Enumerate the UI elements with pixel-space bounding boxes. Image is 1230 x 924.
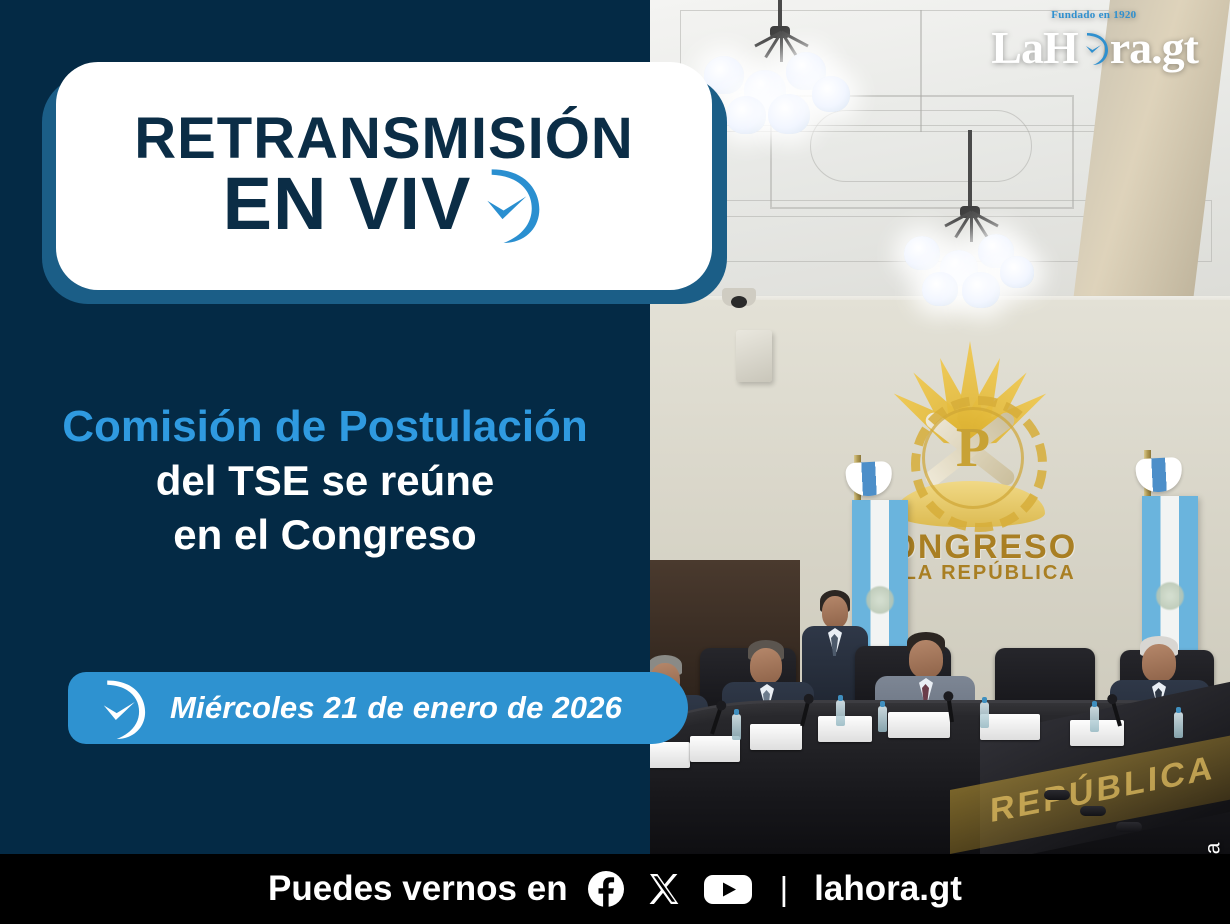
facebook-icon[interactable]	[586, 869, 626, 909]
microphone-base	[1044, 790, 1070, 800]
title-line-retransmision: RETRANSMISIÓN	[134, 109, 634, 169]
lahora-founded-text: Fundado en 1920	[1051, 10, 1136, 21]
water-bottle	[732, 714, 741, 740]
title-card: RETRANSMISIÓN EN VIV	[56, 62, 712, 290]
water-bottle	[1090, 706, 1099, 732]
crescent-swoosh-icon	[1079, 28, 1109, 68]
water-bottle	[1174, 712, 1183, 738]
footer-url[interactable]: lahora.gt	[814, 870, 962, 908]
lahora-logo[interactable]: LaH ra.gt Fundado en 1920	[991, 22, 1198, 74]
promo-graphic: P CONGRESO DE LA REPÚBLICA	[0, 0, 1230, 924]
microphone-base	[1080, 806, 1106, 816]
emblem-monogram: P	[944, 419, 996, 477]
photo-credit: Foto La Hora	[1203, 842, 1224, 854]
footer-separator: |	[780, 870, 789, 908]
microphone-base	[1116, 822, 1142, 832]
nameplate	[750, 724, 802, 750]
chandelier-center	[890, 130, 1050, 330]
nameplate	[980, 714, 1040, 740]
headline-line-3: en el Congreso	[0, 508, 650, 562]
headline-line-2: del TSE se reúne	[0, 454, 650, 508]
security-camera	[722, 288, 756, 306]
date-badge-text: Miércoles 21 de enero de 2026	[170, 691, 622, 725]
lahora-logo-text-right: ra.gt	[1110, 25, 1198, 71]
water-bottle	[980, 702, 989, 728]
headline-line-1: Comisión de Postulación	[0, 400, 650, 454]
nameplate	[818, 716, 872, 742]
headline: Comisión de Postulación del TSE se reúne…	[0, 400, 650, 562]
nameplate	[888, 712, 950, 738]
water-bottle	[836, 700, 845, 726]
date-badge: Miércoles 21 de enero de 2026	[68, 672, 688, 744]
lahora-logo-text-left: LaH	[991, 25, 1077, 71]
event-photo: P CONGRESO DE LA REPÚBLICA	[650, 0, 1230, 854]
crescent-swoosh-icon	[90, 677, 152, 739]
nameplate	[650, 742, 690, 768]
x-twitter-icon[interactable]	[644, 869, 684, 909]
footer-label: Puedes vernos en	[268, 870, 568, 908]
title-line-envivo: EN VIV	[223, 166, 472, 242]
crescent-swoosh-icon	[473, 165, 545, 243]
youtube-icon[interactable]	[702, 869, 754, 909]
footer-bar: Puedes vernos en | lahora.gt	[0, 854, 1230, 924]
water-bottle	[878, 706, 887, 732]
wall-speaker	[736, 330, 772, 382]
